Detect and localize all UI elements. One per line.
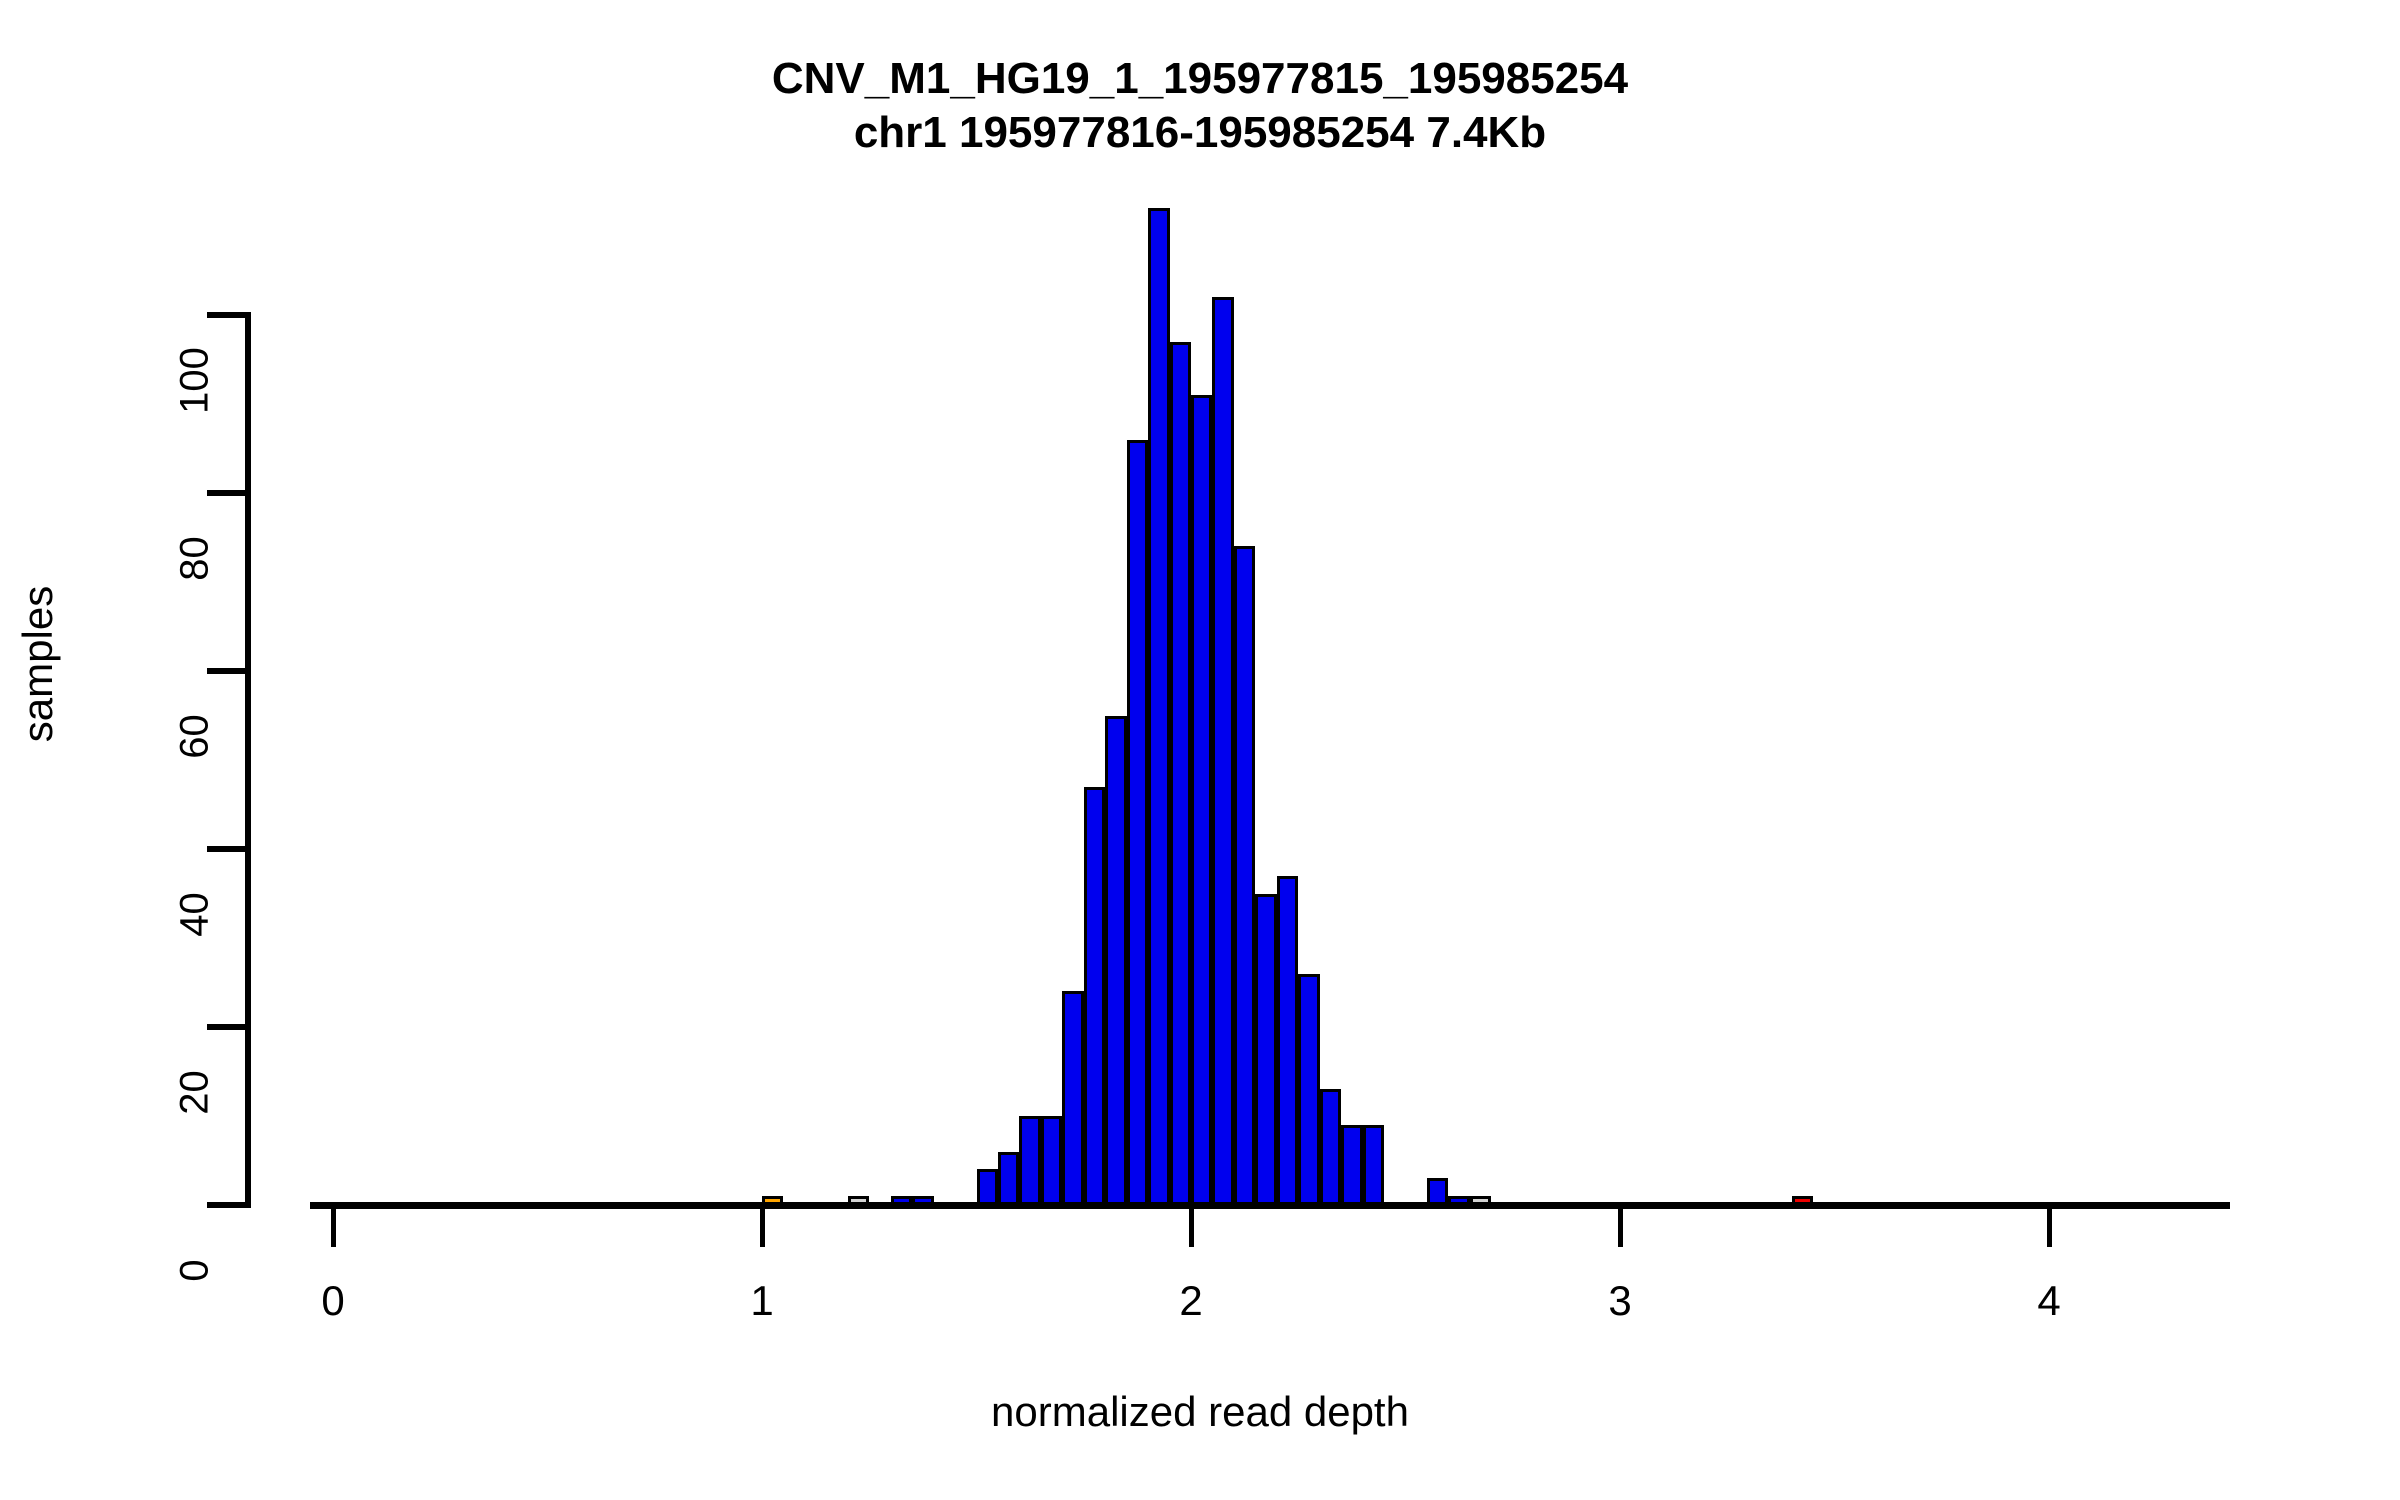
histogram-bar <box>1341 1125 1362 1205</box>
histogram-bar <box>1298 974 1319 1205</box>
histogram-bars <box>0 0 2400 1500</box>
histogram-bar <box>762 1196 783 1205</box>
histogram-bar <box>1470 1196 1491 1205</box>
histogram-bar <box>1041 1116 1062 1205</box>
histogram-bar <box>912 1196 933 1205</box>
histogram-bar <box>1170 342 1191 1205</box>
histogram-bar <box>1277 876 1298 1205</box>
histogram-bar <box>1255 894 1276 1206</box>
histogram-bar <box>1105 716 1126 1206</box>
histogram-bar <box>1212 297 1233 1205</box>
histogram-bar <box>1448 1196 1469 1205</box>
histogram-bar <box>977 1169 998 1205</box>
histogram-bar <box>1019 1116 1040 1205</box>
histogram-bar <box>1363 1125 1384 1205</box>
histogram-bar <box>1792 1196 1813 1205</box>
histogram-bar <box>1062 991 1083 1205</box>
histogram-plot: CNV_M1_HG19_1_195977815_195985254 chr1 1… <box>0 0 2400 1500</box>
histogram-bar <box>1148 208 1169 1205</box>
histogram-bar <box>1191 395 1212 1205</box>
histogram-bar <box>1127 440 1148 1205</box>
histogram-bar <box>1084 787 1105 1205</box>
histogram-bar <box>998 1152 1019 1205</box>
histogram-bar <box>1427 1178 1448 1205</box>
histogram-bar <box>1320 1089 1341 1205</box>
histogram-bar <box>1234 546 1255 1205</box>
histogram-bar <box>891 1196 912 1205</box>
histogram-bar <box>848 1196 869 1205</box>
